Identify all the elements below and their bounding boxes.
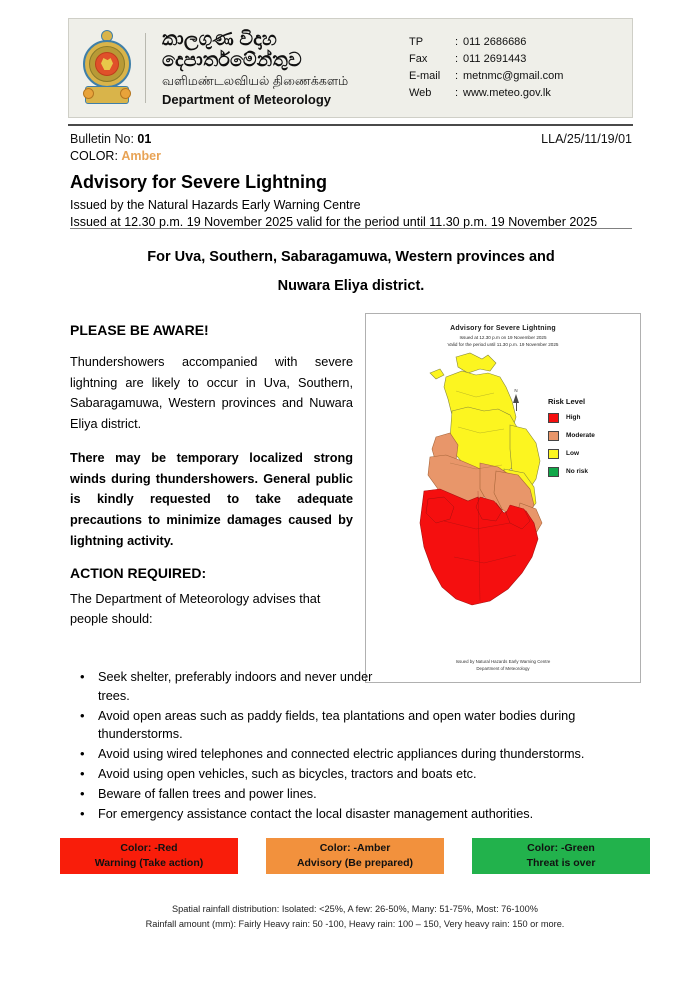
contact-value-email[interactable]: metnmc@gmail.com <box>463 68 624 85</box>
action-required-list: Seek shelter, preferably indoors and nev… <box>74 668 634 824</box>
letterhead-banner: කාලගුණ විදාහ දෙපාර්තමේන්තුව வளிமண்டலவியல… <box>68 18 633 118</box>
footer-note-line-2: Rainfall amount (mm): Fairly Heavy rain:… <box>60 917 650 932</box>
contact-value-tp: 011 2686686 <box>463 34 624 51</box>
advisory-main-title: Advisory for Severe Lightning <box>70 172 632 193</box>
affected-regions-line-2: Nuwara Eliya district. <box>70 272 632 301</box>
color-box-amber-line-2: Advisory (Be prepared) <box>297 856 413 871</box>
map-subtitle-line-2: Valid for the period until 11.30 p.m. 19… <box>366 342 640 349</box>
map-subtitle-line-1: Issued at 12.30 p.m on 19 November 2025 <box>366 335 640 342</box>
bulletin-color-row: COLOR: Amber <box>70 149 632 163</box>
color-box-amber-line-1: Color: -Amber <box>320 841 391 856</box>
emblem-base-dot-left <box>83 88 94 99</box>
risk-map-panel: Advisory for Severe Lightning Issued at … <box>365 313 641 683</box>
color-box-green: Color: -Green Threat is over <box>472 838 650 874</box>
emblem-container <box>69 19 145 117</box>
rainfall-definitions-footer: Spatial rainfall distribution: Isolated:… <box>60 902 650 932</box>
compass-stem <box>516 403 517 411</box>
bulletin-number-value: 01 <box>137 132 151 146</box>
bulletin-reference-code: LLA/25/11/19/01 <box>541 132 632 146</box>
bulletin-meta-block: Bulletin No: 01 LLA/25/11/19/01 COLOR: A… <box>70 132 632 229</box>
please-be-aware-heading: PLEASE BE AWARE! <box>70 322 353 338</box>
map-footer-line-1: Issued by Natural Hazards Early Warning … <box>366 658 640 665</box>
meta-bottom-rule <box>70 228 632 229</box>
bulletin-color-label: COLOR: <box>70 149 121 163</box>
color-box-red-line-2: Warning (Take action) <box>95 856 204 871</box>
legend-swatch-moderate <box>548 431 559 441</box>
legend-swatch-no-risk <box>548 467 559 477</box>
color-box-amber: Color: -Amber Advisory (Be prepared) <box>266 838 444 874</box>
department-name-sinhala: කාලගුණ විදාහ දෙපාර්තමේන්තුව <box>162 29 409 73</box>
color-box-red-line-1: Color: -Red <box>120 841 177 856</box>
contact-details-block: TP : 011 2686686 Fax : 011 2691443 E-mai… <box>409 34 632 102</box>
contact-value-web[interactable]: www.meteo.gov.lk <box>463 85 624 102</box>
legend-label-no-risk: No risk <box>566 468 588 475</box>
action-required-intro: The Department of Meteorology advises th… <box>70 590 353 629</box>
issued-at-line: Issued at 12.30 p.m. 19 November 2025 va… <box>70 215 632 229</box>
map-body: N Risk Level High Moderate Low <box>366 349 640 621</box>
contact-separator-tp: : <box>455 34 463 51</box>
affected-regions-heading: For Uva, Southern, Sabaragamuwa, Western… <box>70 243 632 301</box>
list-item: Avoid using wired telephones and connect… <box>74 745 634 764</box>
department-name-english: Department of Meteorology <box>162 93 409 108</box>
contact-label-web: Web <box>409 85 455 102</box>
contact-row-email: E-mail : metnmc@gmail.com <box>409 68 624 85</box>
map-subtitle: Issued at 12.30 p.m on 19 November 2025 … <box>366 335 640 349</box>
affected-regions-line-1: For Uva, Southern, Sabaragamuwa, Western… <box>70 243 632 272</box>
legend-swatch-high <box>548 413 559 423</box>
map-legend: Risk Level High Moderate Low No risk <box>548 397 634 485</box>
contact-label-fax: Fax <box>409 51 455 68</box>
legend-label-high: High <box>566 414 580 421</box>
contact-row-web: Web : www.meteo.gov.lk <box>409 85 624 102</box>
action-required-heading: ACTION REQUIRED: <box>70 565 353 581</box>
color-box-green-line-1: Color: -Green <box>527 841 595 856</box>
bulletin-color-value: Amber <box>121 149 161 163</box>
advisory-paragraph-2: There may be temporary localized strong … <box>70 448 353 551</box>
map-legend-title: Risk Level <box>548 397 634 406</box>
legend-swatch-low <box>548 449 559 459</box>
legend-label-moderate: Moderate <box>566 432 595 439</box>
compass-north-label: N <box>509 389 523 394</box>
issued-by-line: Issued by the Natural Hazards Early Warn… <box>70 198 632 212</box>
legend-label-low: Low <box>566 450 579 457</box>
contact-label-email: E-mail <box>409 68 455 85</box>
compass-rose-icon: N <box>509 389 523 415</box>
contact-separator-web: : <box>455 85 463 102</box>
bulletin-number-label: Bulletin No: <box>70 132 137 146</box>
advisory-paragraph-1: Thundershowers accompanied with severe l… <box>70 352 353 434</box>
contact-row-tp: TP : 011 2686686 <box>409 34 624 51</box>
header-bottom-rule <box>68 124 633 126</box>
color-box-red: Color: -Red Warning (Take action) <box>60 838 238 874</box>
color-code-legend-row: Color: -Red Warning (Take action) Color:… <box>60 838 650 874</box>
legend-item-high: High <box>548 413 634 423</box>
advisory-text-column: PLEASE BE AWARE! Thundershowers accompan… <box>70 322 353 630</box>
list-item: Avoid open areas such as paddy fields, t… <box>74 707 634 745</box>
map-title: Advisory for Severe Lightning <box>366 325 640 332</box>
list-item: Beware of fallen trees and power lines. <box>74 785 634 804</box>
list-item: Avoid using open vehicles, such as bicyc… <box>74 765 634 784</box>
department-name-tamil: வளிமண்டலவியல் திணைக்களம் <box>162 74 409 88</box>
bulletin-number-row: Bulletin No: 01 LLA/25/11/19/01 <box>70 132 632 146</box>
footer-note-line-1: Spatial rainfall distribution: Isolated:… <box>60 902 650 917</box>
contact-value-fax: 011 2691443 <box>463 51 624 68</box>
legend-item-low: Low <box>548 449 634 459</box>
department-name-block: කාලගුණ විදාහ දෙපාර්තමේන්තුව வளிமண்டலவியல… <box>146 29 409 108</box>
compass-arrow <box>513 394 519 403</box>
contact-separator-fax: : <box>455 51 463 68</box>
contact-label-tp: TP <box>409 34 455 51</box>
contact-separator-email: : <box>455 68 463 85</box>
legend-item-no-risk: No risk <box>548 467 634 477</box>
list-item: For emergency assistance contact the loc… <box>74 805 634 824</box>
color-box-green-line-2: Threat is over <box>527 856 596 871</box>
list-item: Seek shelter, preferably indoors and nev… <box>74 668 376 706</box>
sri-lanka-risk-map-svg <box>384 351 574 619</box>
contact-row-fax: Fax : 011 2691443 <box>409 51 624 68</box>
bulletin-number: Bulletin No: 01 <box>70 132 151 146</box>
advisory-document-page: කාලගුණ විදාහ දෙපාර්තමේන්තුව வளிமண்டலவியல… <box>0 0 700 983</box>
legend-item-moderate: Moderate <box>548 431 634 441</box>
sri-lanka-national-emblem-icon <box>79 30 135 106</box>
emblem-base-dot-right <box>120 88 131 99</box>
